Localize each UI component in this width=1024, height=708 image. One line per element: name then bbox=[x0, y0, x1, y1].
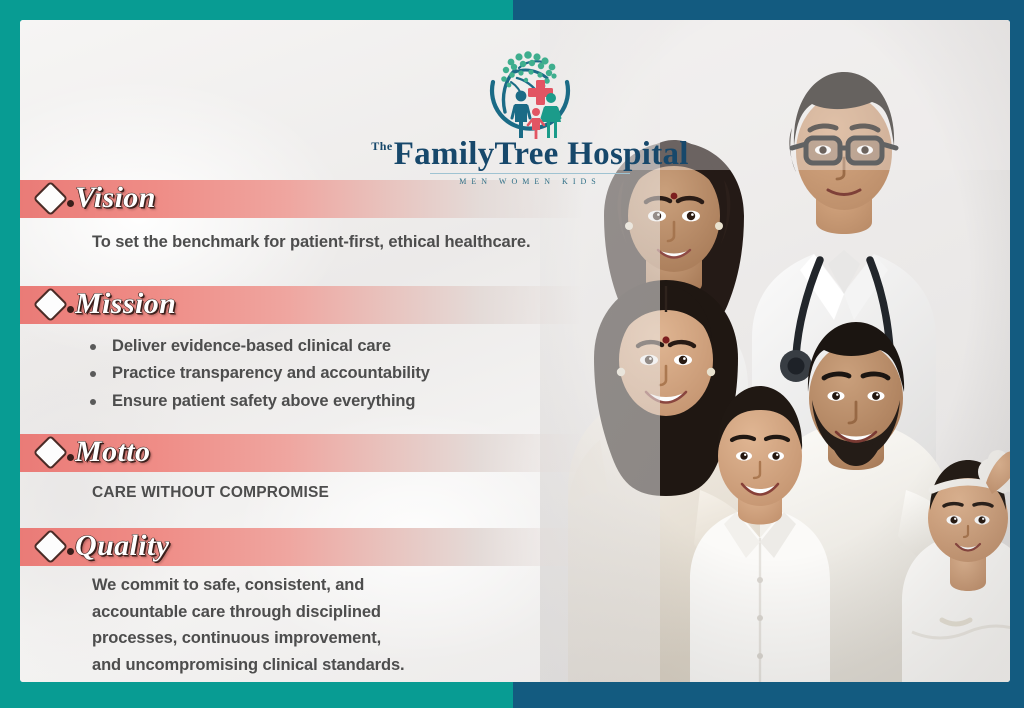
section-title-quality: Quality bbox=[75, 529, 169, 563]
logo-tagline: MEN WOMEN KIDS bbox=[360, 177, 700, 186]
section-title-vision: Vision bbox=[75, 181, 156, 215]
diamond-icon bbox=[32, 434, 70, 472]
logo-hospital: Hospital bbox=[567, 136, 689, 172]
sections-list: Vision To set the benchmark for patient-… bbox=[20, 180, 660, 679]
quality-line: accountable care through disciplined bbox=[92, 599, 660, 626]
hospital-logo: TheFamilyTree Hospital MEN WOMEN KIDS bbox=[360, 48, 700, 186]
section-band-motto: Motto bbox=[20, 434, 660, 472]
quality-line: and uncompromising clinical standards. bbox=[92, 652, 660, 679]
quality-line: processes, continuous improvement, bbox=[92, 625, 660, 652]
logo-tree: Tree bbox=[495, 136, 559, 172]
list-item: Practice transparency and accountability bbox=[112, 360, 660, 388]
diamond-icon bbox=[32, 286, 70, 324]
list-item: Ensure patient safety above everything bbox=[112, 388, 660, 416]
family-tree-with-cross-logo bbox=[475, 48, 585, 140]
section-text-motto: CARE WITHOUT COMPROMISE bbox=[20, 472, 660, 502]
section-vision: Vision To set the benchmark for patient-… bbox=[20, 180, 660, 256]
section-mission: Mission Deliver evidence-based clinical … bbox=[20, 286, 660, 416]
spacer bbox=[20, 256, 660, 286]
section-band-mission: Mission bbox=[20, 286, 660, 324]
section-band-quality: Quality bbox=[20, 528, 660, 566]
diamond-icon bbox=[32, 180, 70, 218]
section-title-motto: Motto bbox=[75, 435, 150, 469]
section-text-vision: To set the benchmark for patient-first, … bbox=[20, 218, 660, 256]
content-card: TheFamilyTree Hospital MEN WOMEN KIDS Vi… bbox=[20, 20, 1010, 682]
list-item: Deliver evidence-based clinical care bbox=[112, 333, 660, 361]
poster: TheFamilyTree Hospital MEN WOMEN KIDS Vi… bbox=[0, 0, 1024, 708]
diamond-icon bbox=[32, 528, 70, 566]
logo-family: Family bbox=[394, 136, 495, 172]
mission-bullet-list: Deliver evidence-based clinical care Pra… bbox=[20, 324, 660, 416]
quality-line: We commit to safe, consistent, and bbox=[92, 572, 660, 599]
section-motto: Motto CARE WITHOUT COMPROMISE bbox=[20, 434, 660, 502]
section-title-mission: Mission bbox=[75, 287, 176, 321]
section-quality: Quality We commit to safe, consistent, a… bbox=[20, 528, 660, 679]
spacer bbox=[20, 502, 660, 528]
spacer bbox=[20, 416, 660, 434]
logo-wordmark: TheFamilyTree Hospital bbox=[360, 138, 700, 171]
logo-the: The bbox=[371, 139, 393, 153]
section-text-quality: We commit to safe, consistent, and accou… bbox=[20, 566, 660, 679]
logo-divider bbox=[430, 173, 630, 174]
